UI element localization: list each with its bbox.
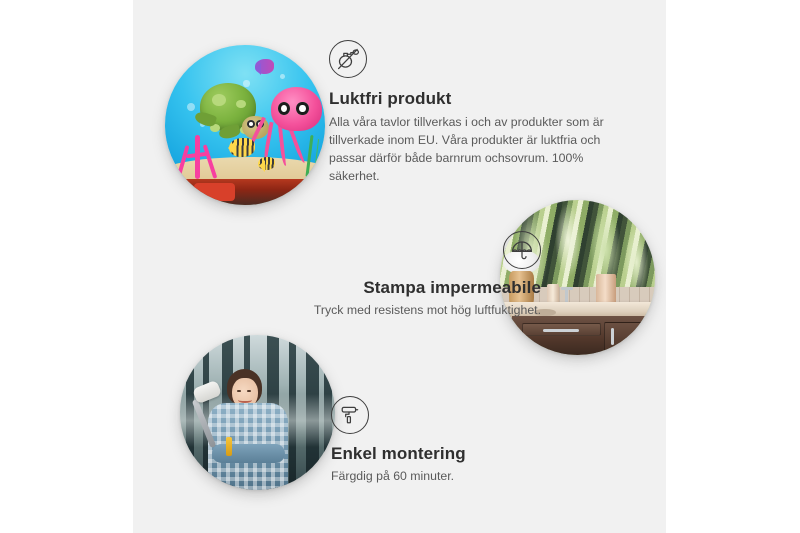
feature-odour-free: Luktfri produkt Alla våra tavlor tillver… (329, 40, 629, 186)
paint-roller-icon (331, 396, 369, 434)
vanity-door (604, 322, 655, 353)
feature-waterproof-print: Stampa impermeabile Tryck med resistens … (211, 231, 541, 320)
umbrella-icon (503, 231, 541, 269)
product-feature-graphic: Luktfri produkt Alla våra tavlor tillver… (0, 0, 800, 533)
bubble-icon (280, 74, 285, 79)
feature-panel: Luktfri produkt Alla våra tavlor tillver… (133, 0, 666, 533)
decor-candle (547, 284, 559, 304)
hand-tool (226, 437, 232, 456)
crossed-arms (212, 444, 285, 463)
coral-illustration (176, 135, 221, 180)
underwater-kids-mural-thumbnail (165, 45, 325, 205)
ocean-artwork (165, 45, 325, 205)
fish-illustration (229, 138, 255, 157)
feature-title: Enkel montering (331, 443, 591, 464)
vanity-drawer (522, 323, 601, 336)
feature-description: Färgdig på 60 minuter. (331, 468, 591, 486)
mural-bottom-strip (165, 179, 325, 205)
wooden-vanity (512, 316, 655, 355)
feature-description: Alla våra tavlor tillverkas i och av pro… (329, 114, 629, 185)
no-smell-spray-bottle-icon (329, 40, 367, 78)
feature-description: Tryck med resistens mot hög luftfuktighe… (211, 302, 541, 320)
woman-illustration (205, 369, 292, 490)
octopus-tentacle (277, 125, 288, 167)
octopus-head (271, 87, 322, 131)
feature-title: Stampa impermeabile (211, 277, 541, 298)
fish-illustration (258, 157, 276, 170)
feature-title: Luktfri produkt (329, 88, 629, 109)
woman-with-paint-roller-forest-thumbnail (180, 335, 335, 490)
feature-easy-mounting: Enkel montering Färgdig på 60 minuter. (331, 396, 591, 486)
coral-branch (203, 144, 218, 179)
forest-artwork (180, 335, 335, 490)
fish-illustration (255, 59, 274, 73)
coral-branch (176, 145, 189, 178)
